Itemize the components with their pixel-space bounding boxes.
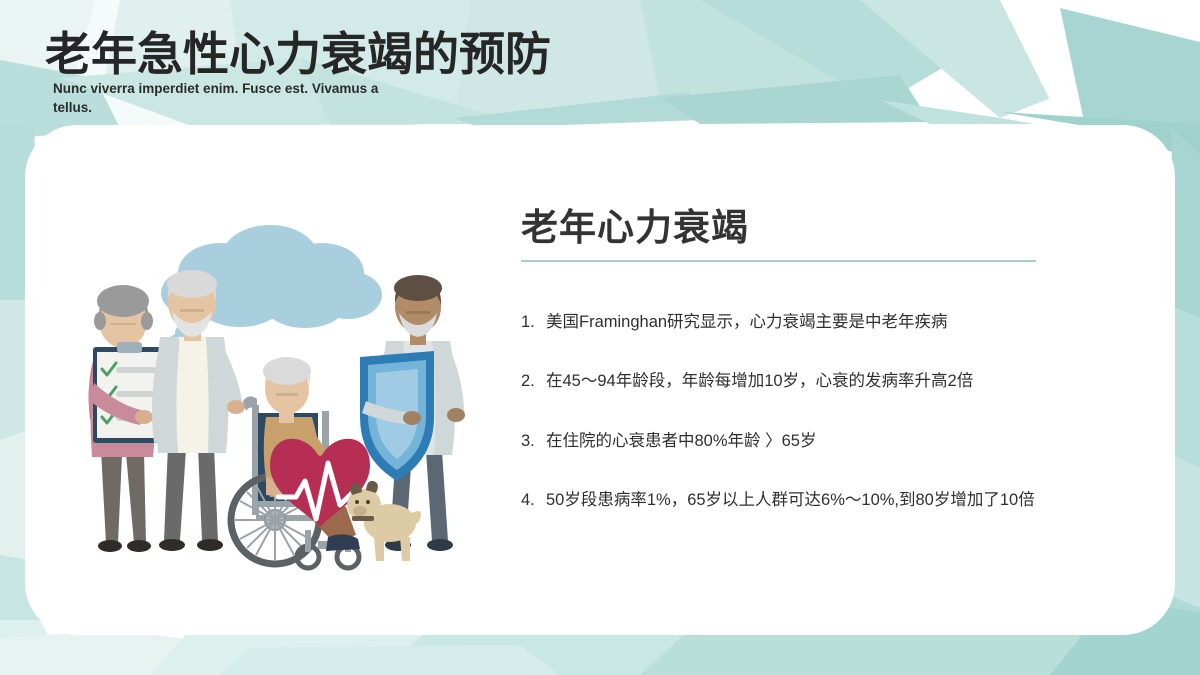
list-item-number: 3. [521, 425, 546, 457]
section-heading: 老年心力衰竭 [521, 205, 1081, 251]
list-item: 3. 在住院的心衰患者中80%年龄 〉65岁 [521, 425, 1081, 457]
list-item-number: 4. [521, 484, 546, 516]
list-item-text: 在住院的心衰患者中80%年龄 〉65岁 [546, 425, 1066, 457]
list-item-number: 2. [521, 365, 546, 397]
bullet-list: 1. 美国Framinghan研究显示，心力衰竭主要是中老年疾病 2. 在45～… [521, 306, 1081, 516]
content-column: 老年心力衰竭 1. 美国Framinghan研究显示，心力衰竭主要是中老年疾病 … [521, 205, 1081, 543]
list-item: 2. 在45～94年龄段，年龄每增加10岁，心衰的发病率升高2倍 [521, 365, 1081, 397]
list-item-text: 50岁段患病率1%，65岁以上人群可达6%～10%,到80岁增加了10倍 [546, 484, 1066, 516]
list-item-number: 1. [521, 306, 546, 338]
page-title: 老年急性心力衰竭的预防 [45, 30, 685, 78]
list-item-text: 在45～94年龄段，年龄每增加10岁，心衰的发病率升高2倍 [546, 365, 1066, 397]
list-item: 1. 美国Framinghan研究显示，心力衰竭主要是中老年疾病 [521, 306, 1081, 338]
presentation-slide: 老年急性心力衰竭的预防 Nunc viverra imperdiet enim.… [0, 0, 1200, 675]
page-subtitle: Nunc viverra imperdiet enim. Fusce est. … [53, 80, 383, 116]
list-item-text: 美国Framinghan研究显示，心力衰竭主要是中老年疾病 [546, 306, 1066, 338]
elderly-care-illustration [60, 205, 480, 580]
heading-divider [521, 260, 1036, 262]
list-item: 4. 50岁段患病率1%，65岁以上人群可达6%～10%,到80岁增加了10倍 [521, 484, 1081, 516]
title-block: 老年急性心力衰竭的预防 Nunc viverra imperdiet enim.… [45, 30, 685, 117]
